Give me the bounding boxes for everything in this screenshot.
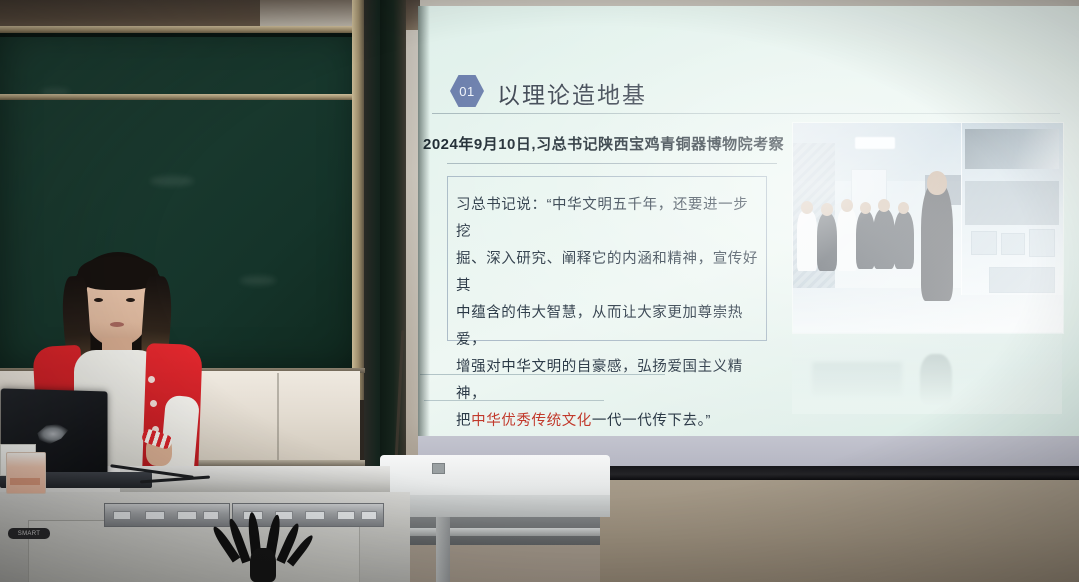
photo-projector-glare [793,123,1063,333]
podium-brand-label: SMART [8,528,50,539]
podium-control-panel-left[interactable] [104,503,230,527]
presenter-mouth [110,322,124,327]
slide-header-divider [432,113,1060,114]
screen-left-shadow [418,6,430,436]
blackboard-rail-top [0,26,360,33]
wall-dark-column [380,0,406,470]
blackboard-rail-middle [0,94,360,100]
slide-title: 以理论造地基 [497,76,647,110]
desk-tissue-box-label [10,478,40,485]
classroom-wall-lower [600,470,1079,582]
desk-leg [436,517,450,582]
feather-duster [222,520,302,582]
quote-line-2: 掘、深入研究、阐释它的内涵和精神，宣传好其 [456,246,758,300]
slide-decorative-line-2 [424,400,604,401]
slide-photo [792,122,1064,334]
desk-front-edge [388,495,610,517]
quote-highlight-text: 中华优秀传统文化 [471,413,592,429]
board-lower-panel-seam [277,373,279,463]
blackboard-frame-vertical [352,0,364,400]
quote-line-5-suffix: 一代一代传下去。” [592,413,711,429]
slide-quote-text: 习总书记说：“中华文明五千年，还要进一步挖 掘、深入研究、阐释它的内涵和精神，宣… [456,192,758,435]
quote-line-5: 把中华优秀传统文化一代一代传下去。” [456,408,758,435]
quote-line-1: 习总书记说：“中华文明五千年，还要进一步挖 [456,192,758,246]
slide-photo-reflection-fade [792,332,1062,414]
slide-date-underline [447,163,777,164]
presenter-eye-left [94,298,103,302]
rog-logo-icon [36,424,70,444]
screenshot-root: 01 以理论造地基 2024年9月10日,习总书记陕西宝鸡青铜器博物院考察 习总… [0,0,1079,582]
quote-line-3: 中蕴含的伟大智慧，从而让大家更加尊崇热爱， [456,300,758,354]
desk-tissue-box [6,452,46,494]
slide-date-heading: 2024年9月10日,习总书记陕西宝鸡青铜器博物院考察 [423,133,784,154]
desk-cable-grommet [432,463,445,474]
quote-line-5-prefix: 把 [456,413,471,429]
presenter-jacket-button [148,376,155,383]
presenter-jacket-button [150,400,157,407]
presenter-eye-right [126,298,135,302]
blackboard-top-shadow [0,33,360,37]
podium-front-panel [28,520,360,582]
slide-decorative-line-1 [420,374,665,375]
screen-bottom-tray [600,466,1079,480]
